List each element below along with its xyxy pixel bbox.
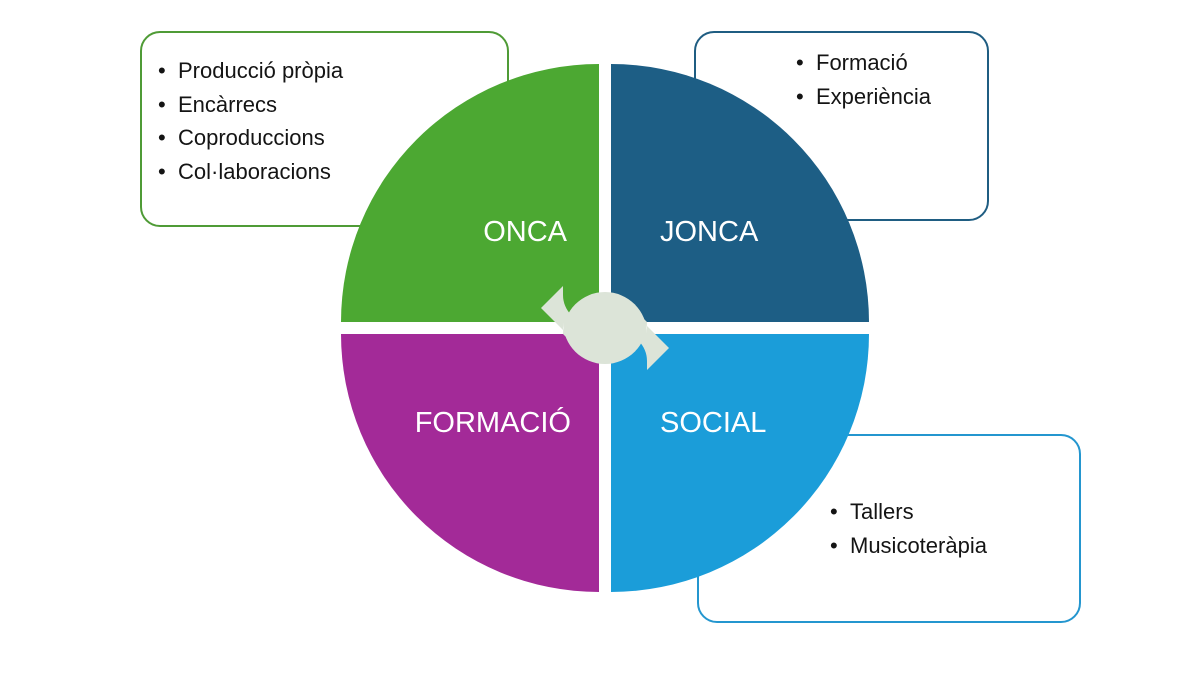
quadrant-formacio[interactable]: FORMACIÓ [341,334,599,592]
quadrant-label-formacio: FORMACIÓ [415,409,571,438]
quadrant-jonca[interactable]: JONCA [611,64,869,322]
list-item-label: Musicoteràpia [850,533,987,558]
quadrant-wheel: ONCA JONCA FORMACIÓ SOCIAL [341,64,869,592]
diagram-canvas: •Producció pròpia •Encàrrecs •Coproducci… [0,0,1203,688]
bullet-icon: • [158,121,166,155]
list-item-label: Col·laboracions [178,159,331,184]
bullet-icon: • [158,54,166,88]
quadrant-label-jonca: JONCA [660,218,758,247]
list-item-label: Encàrrecs [178,92,277,117]
quadrant-onca[interactable]: ONCA [341,64,599,322]
quadrant-social[interactable]: SOCIAL [611,334,869,592]
list-item-label: Producció pròpia [178,58,343,83]
list-item-label: Coproduccions [178,125,325,150]
quadrant-label-social: SOCIAL [660,409,766,438]
quadrant-label-onca: ONCA [483,218,567,247]
bullet-icon: • [158,155,166,189]
bullet-icon: • [158,88,166,122]
